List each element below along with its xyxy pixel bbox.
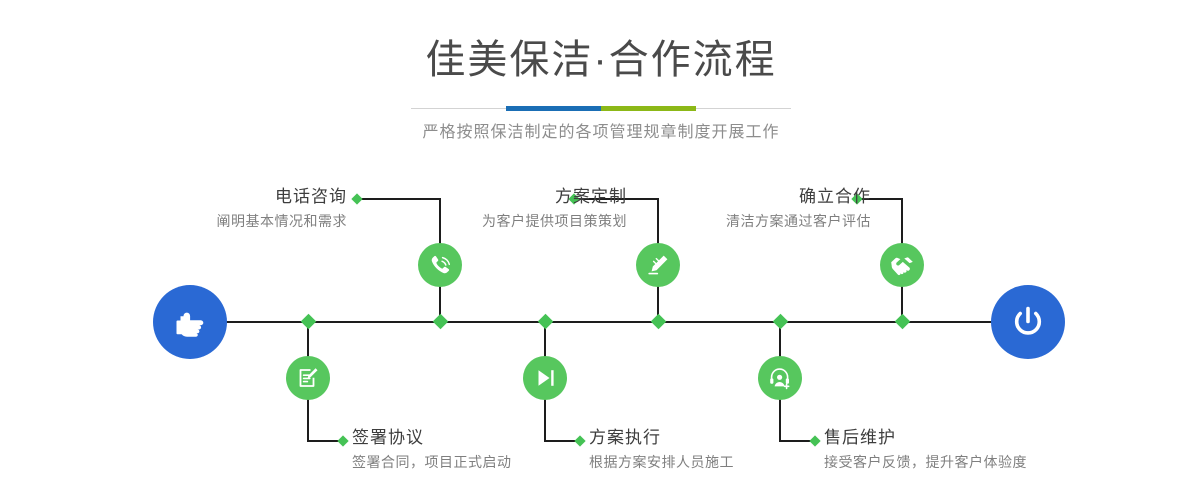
step-icon-2[interactable]	[286, 356, 330, 400]
step-title-4: 方案执行	[589, 427, 734, 449]
connector-diamond-step-1	[351, 193, 362, 204]
step-subtitle-2: 签署合同，项目正式启动	[352, 452, 512, 472]
step-icon-6[interactable]	[758, 356, 802, 400]
connector-diamond-step-2	[337, 435, 348, 446]
step-label-6: 售后维护 接受客户反馈，提升客户体验度	[824, 427, 1027, 472]
axis-marker-step-4	[538, 314, 554, 330]
step-title-6: 售后维护	[824, 427, 1027, 449]
step-title-1: 电话咨询	[217, 186, 348, 208]
timeline-start-node[interactable]	[153, 285, 227, 359]
step-title-5: 确立合作	[726, 186, 871, 208]
step-label-5: 确立合作 清洁方案通过客户评估	[726, 186, 871, 231]
step-subtitle-1: 阐明基本情况和需求	[217, 211, 348, 231]
pencil-design-icon	[645, 252, 671, 278]
step-subtitle-6: 接受客户反馈，提升客户体验度	[824, 452, 1027, 472]
axis-marker-step-2	[301, 314, 317, 330]
step-label-3: 方案定制 为客户提供项目策策划	[482, 186, 627, 231]
process-timeline: 电话咨询 阐明基本情况和需求 签署协议 签署合同，项目正式启动	[0, 0, 1202, 502]
step-icon-3[interactable]	[636, 243, 680, 287]
handshake-icon	[888, 251, 916, 279]
connector-diamond-step-4	[574, 435, 585, 446]
step-subtitle-5: 清洁方案通过客户评估	[726, 211, 871, 231]
timeline-end-node[interactable]	[991, 285, 1065, 359]
step-label-4: 方案执行 根据方案安排人员施工	[589, 427, 734, 472]
step-title-2: 签署协议	[352, 427, 512, 449]
document-edit-icon	[295, 365, 321, 391]
pointing-finger-icon	[170, 302, 210, 342]
power-icon	[1007, 301, 1049, 343]
phone-call-icon	[427, 252, 453, 278]
axis-marker-step-5	[895, 314, 911, 330]
axis-marker-step-3	[651, 314, 667, 330]
step-subtitle-4: 根据方案安排人员施工	[589, 452, 734, 472]
step-icon-5[interactable]	[880, 243, 924, 287]
connector-diamond-step-6	[809, 435, 820, 446]
step-subtitle-3: 为客户提供项目策策划	[482, 211, 627, 231]
axis-marker-step-6	[773, 314, 789, 330]
step-title-3: 方案定制	[482, 186, 627, 208]
step-label-2: 签署协议 签署合同，项目正式启动	[352, 427, 512, 472]
connector-hline-step-1	[358, 198, 440, 200]
step-label-1: 电话咨询 阐明基本情况和需求	[217, 186, 348, 231]
step-icon-1[interactable]	[418, 243, 462, 287]
cooperation-process-infographic: 佳美保洁·合作流程 严格按照保洁制定的各项管理规章制度开展工作	[0, 0, 1202, 502]
axis-marker-step-1	[433, 314, 449, 330]
customer-service-icon	[767, 365, 793, 391]
step-icon-4[interactable]	[523, 356, 567, 400]
play-next-icon	[532, 365, 558, 391]
